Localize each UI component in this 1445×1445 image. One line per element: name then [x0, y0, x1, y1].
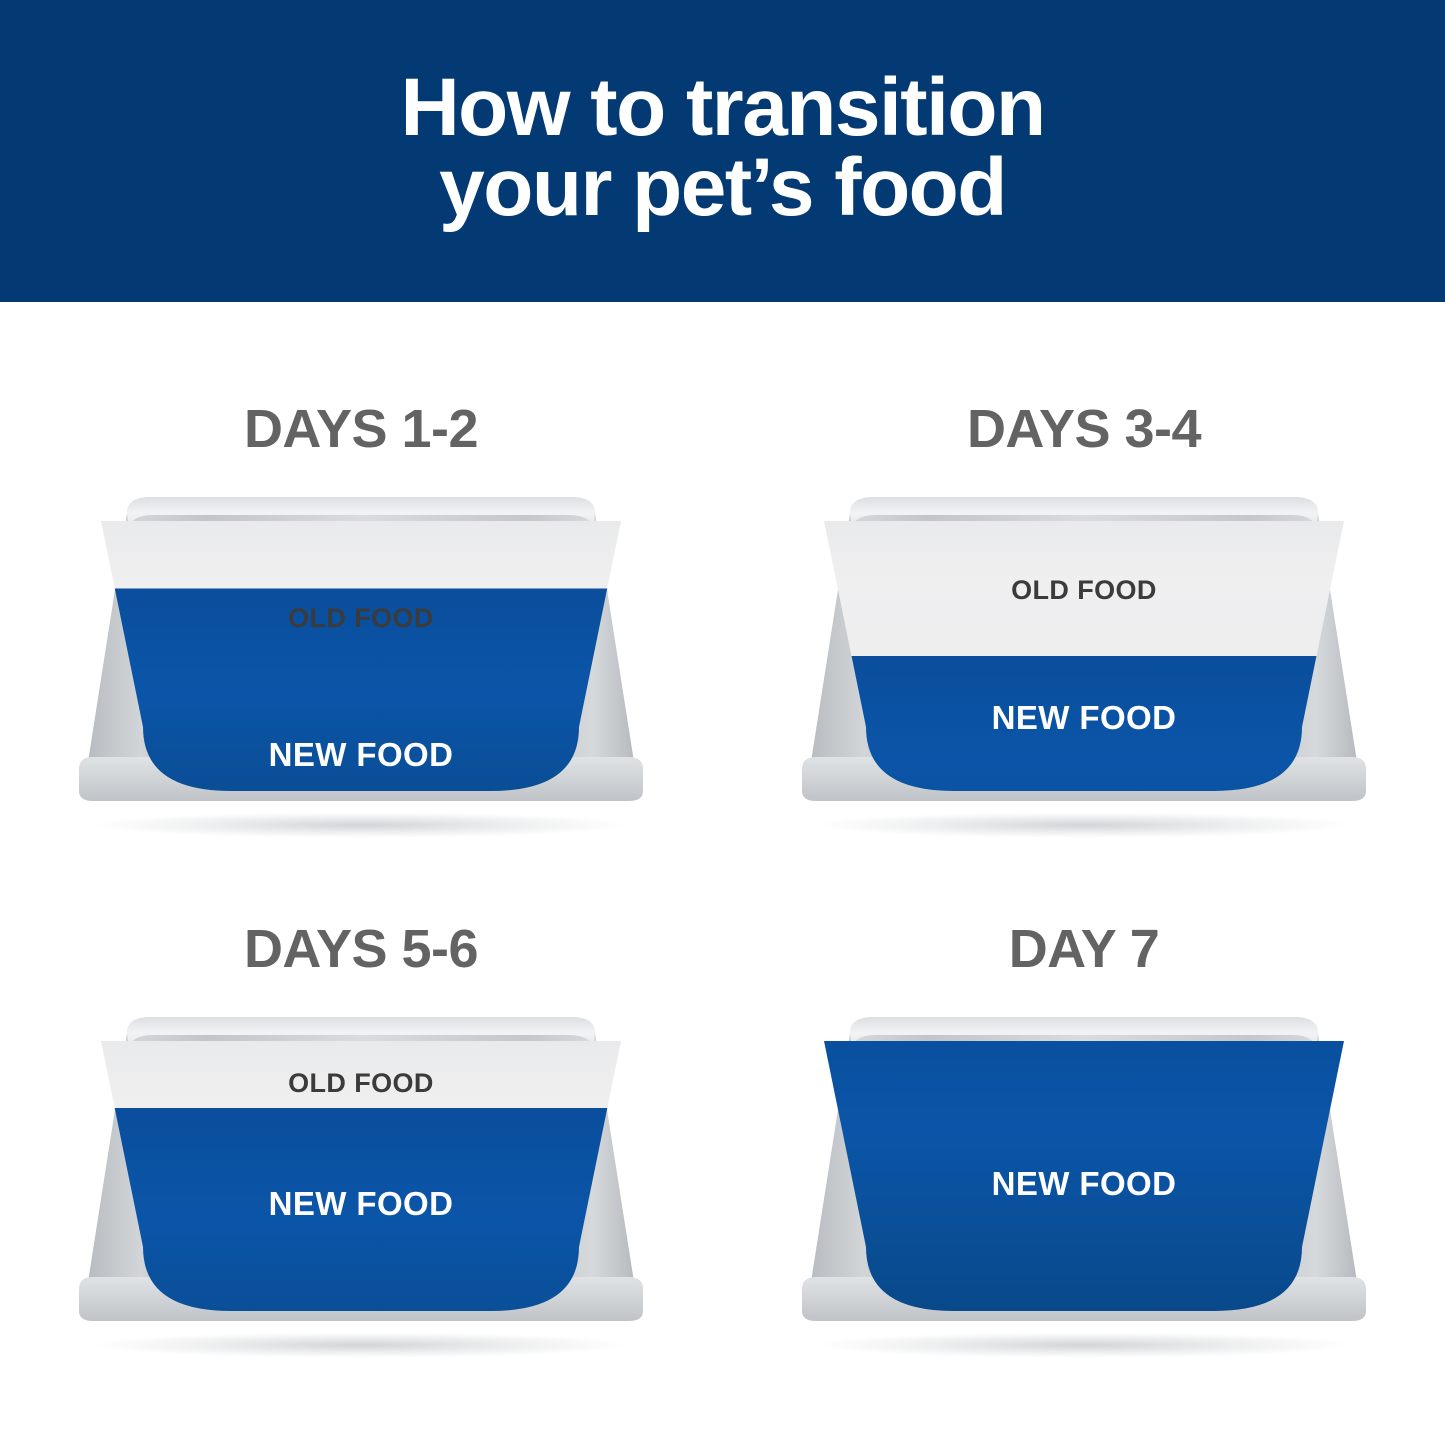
panel-title-day-7: DAY 7	[723, 918, 1445, 980]
food-bowl-days-1-2: OLD FOOD NEW FOOD	[71, 495, 651, 833]
bowl-illustration-icon	[794, 495, 1374, 833]
panel-title-days-1-2: DAYS 1-2	[0, 398, 722, 460]
food-bowl-days-3-4: OLD FOOD NEW FOOD	[794, 495, 1374, 833]
transition-step-panel: DAY 7	[723, 822, 1445, 1393]
panel-title-days-5-6: DAYS 5-6	[0, 918, 722, 980]
bowl-illustration-icon	[794, 1015, 1374, 1353]
bowl-illustration-icon	[71, 1015, 651, 1353]
transition-step-panel: DAYS 3-4	[723, 302, 1445, 873]
transition-step-panel: DAYS 5-6	[0, 822, 722, 1393]
panel-title-days-3-4: DAYS 3-4	[723, 398, 1445, 460]
page-title: How to transition your pet’s food	[400, 68, 1044, 233]
food-bowl-days-5-6: OLD FOOD NEW FOOD	[71, 1015, 651, 1353]
bowl-illustration-icon	[71, 495, 651, 833]
food-bowl-day-7: NEW FOOD	[794, 1015, 1374, 1353]
header-banner: How to transition your pet’s food	[0, 0, 1445, 302]
new-food-fill	[71, 1108, 651, 1428]
transition-step-panel: DAYS 1-2	[0, 302, 722, 873]
transition-step-grid: DAYS 1-2	[0, 302, 1445, 1445]
